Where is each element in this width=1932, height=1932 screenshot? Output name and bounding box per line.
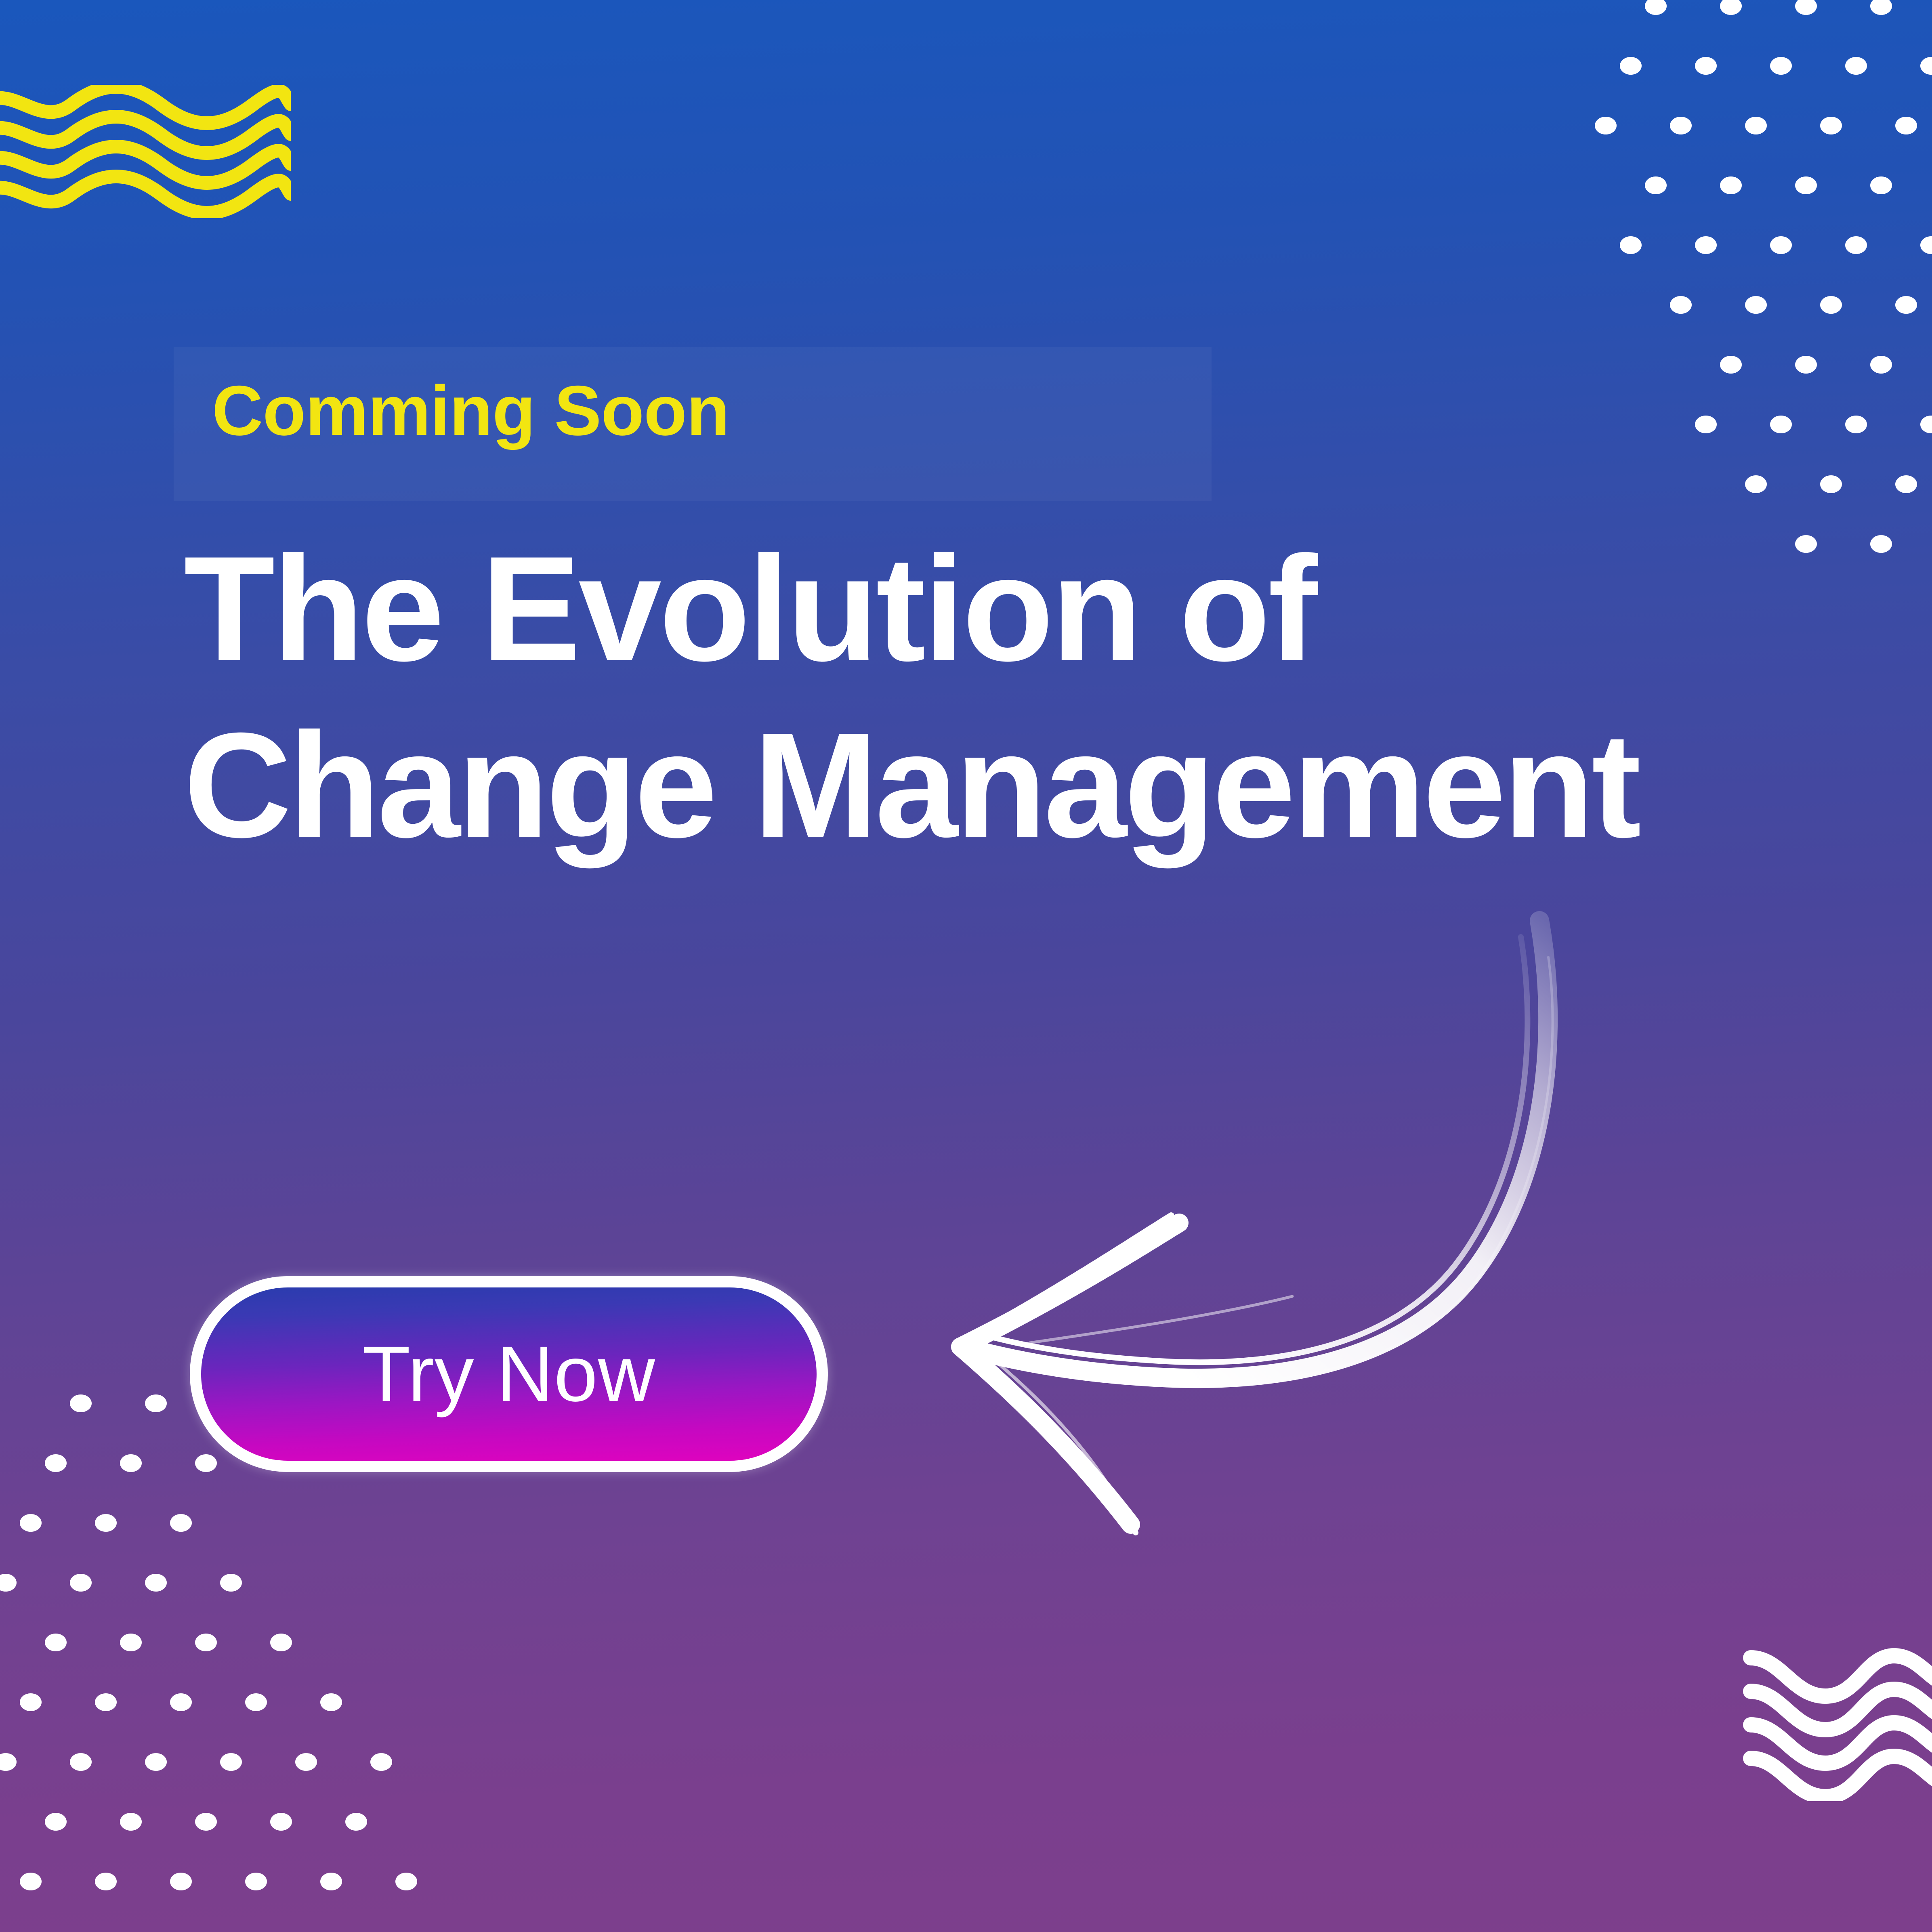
decorative-dot — [1820, 475, 1842, 493]
decorative-dot — [145, 1574, 167, 1592]
decorative-dot — [1745, 296, 1767, 314]
decorative-dot — [95, 1873, 117, 1890]
decorative-dot — [0, 1753, 17, 1771]
decorative-dot — [1670, 117, 1692, 134]
decorative-dot — [1920, 236, 1932, 254]
decorative-dot — [1795, 356, 1817, 374]
decorative-dot — [1595, 117, 1617, 134]
decorative-dot — [270, 1634, 292, 1651]
decorative-dot — [295, 1753, 317, 1771]
decorative-dot — [170, 1693, 192, 1711]
decorative-dot — [395, 1873, 417, 1890]
decorative-dot — [1620, 236, 1642, 254]
decorative-dot — [1845, 57, 1867, 75]
decorative-dot — [1920, 416, 1932, 433]
decorative-dot — [1695, 416, 1717, 433]
decorative-dot — [270, 1813, 292, 1831]
promo-poster: Comming Soon The Evolution of Change Man… — [0, 0, 1932, 1932]
decorative-dot — [245, 1693, 267, 1711]
decorative-dot — [1745, 475, 1767, 493]
headline-line-2: Change Management — [184, 697, 1698, 874]
decorative-dot — [45, 1634, 67, 1651]
decorative-dot — [45, 1813, 67, 1831]
headline-line-1: The Evolution of — [184, 521, 1698, 697]
decorative-dot — [1670, 296, 1692, 314]
decorative-dot — [1870, 356, 1892, 374]
decorative-dot — [320, 1873, 342, 1890]
try-now-button-label: Try Now — [362, 1335, 655, 1413]
decorative-dot — [320, 1693, 342, 1711]
decorative-dot — [1695, 57, 1717, 75]
decorative-dot — [245, 1873, 267, 1890]
decorative-dot — [95, 1514, 117, 1532]
try-now-button[interactable]: Try Now — [190, 1276, 828, 1472]
decorative-dot — [1845, 236, 1867, 254]
decorative-dot — [1895, 117, 1917, 134]
decorative-dot — [20, 1693, 42, 1711]
yellow-wave-lines-decoration — [0, 85, 291, 218]
arrow-svg — [929, 909, 1575, 1575]
decorative-dot — [195, 1813, 217, 1831]
decorative-dot — [120, 1454, 142, 1472]
decorative-dot — [1770, 416, 1792, 433]
white-wave-lines-decoration — [1732, 1640, 1932, 1801]
decorative-dot — [1870, 176, 1892, 194]
decorative-dot — [1620, 57, 1642, 75]
decorative-dot — [370, 1753, 392, 1771]
decorative-dot — [1870, 535, 1892, 553]
decorative-dot — [20, 1514, 42, 1532]
decorative-dot — [1720, 176, 1742, 194]
decorative-dot — [1745, 117, 1767, 134]
decorative-dot — [1870, 0, 1892, 15]
white-waves-svg — [1732, 1640, 1932, 1801]
decorative-dot — [70, 1753, 92, 1771]
decorative-dot — [1770, 236, 1792, 254]
decorative-dot — [95, 1693, 117, 1711]
decorative-dot — [1820, 117, 1842, 134]
decorative-dot — [345, 1813, 367, 1831]
dot-field-top-right — [1607, 0, 1932, 573]
yellow-waves-svg — [0, 85, 291, 218]
curved-brush-arrow-icon — [929, 909, 1575, 1575]
decorative-dot — [1645, 176, 1667, 194]
page-title: The Evolution of Change Management — [184, 521, 1698, 874]
decorative-dot — [170, 1514, 192, 1532]
decorative-dot — [1795, 535, 1817, 553]
decorative-dot — [1845, 416, 1867, 433]
decorative-dot — [220, 1574, 242, 1592]
decorative-dot — [45, 1454, 67, 1472]
decorative-dot — [1895, 296, 1917, 314]
decorative-dot — [1920, 57, 1932, 75]
decorative-dot — [1720, 0, 1742, 15]
decorative-dot — [1770, 57, 1792, 75]
decorative-dot — [0, 1574, 17, 1592]
decorative-dot — [120, 1813, 142, 1831]
decorative-dot — [1895, 475, 1917, 493]
eyebrow-label: Comming Soon — [212, 376, 729, 446]
decorative-dot — [1795, 0, 1817, 15]
decorative-dot — [1695, 236, 1717, 254]
decorative-dot — [1720, 356, 1742, 374]
decorative-dot — [1645, 0, 1667, 15]
decorative-dot — [195, 1454, 217, 1472]
decorative-dot — [1795, 176, 1817, 194]
decorative-dot — [20, 1873, 42, 1890]
decorative-dot — [170, 1873, 192, 1890]
decorative-dot — [145, 1753, 167, 1771]
decorative-dot — [145, 1394, 167, 1412]
decorative-dot — [195, 1634, 217, 1651]
decorative-dot — [220, 1753, 242, 1771]
decorative-dot — [70, 1394, 92, 1412]
decorative-dot — [1820, 296, 1842, 314]
decorative-dot — [70, 1574, 92, 1592]
decorative-dot — [120, 1634, 142, 1651]
